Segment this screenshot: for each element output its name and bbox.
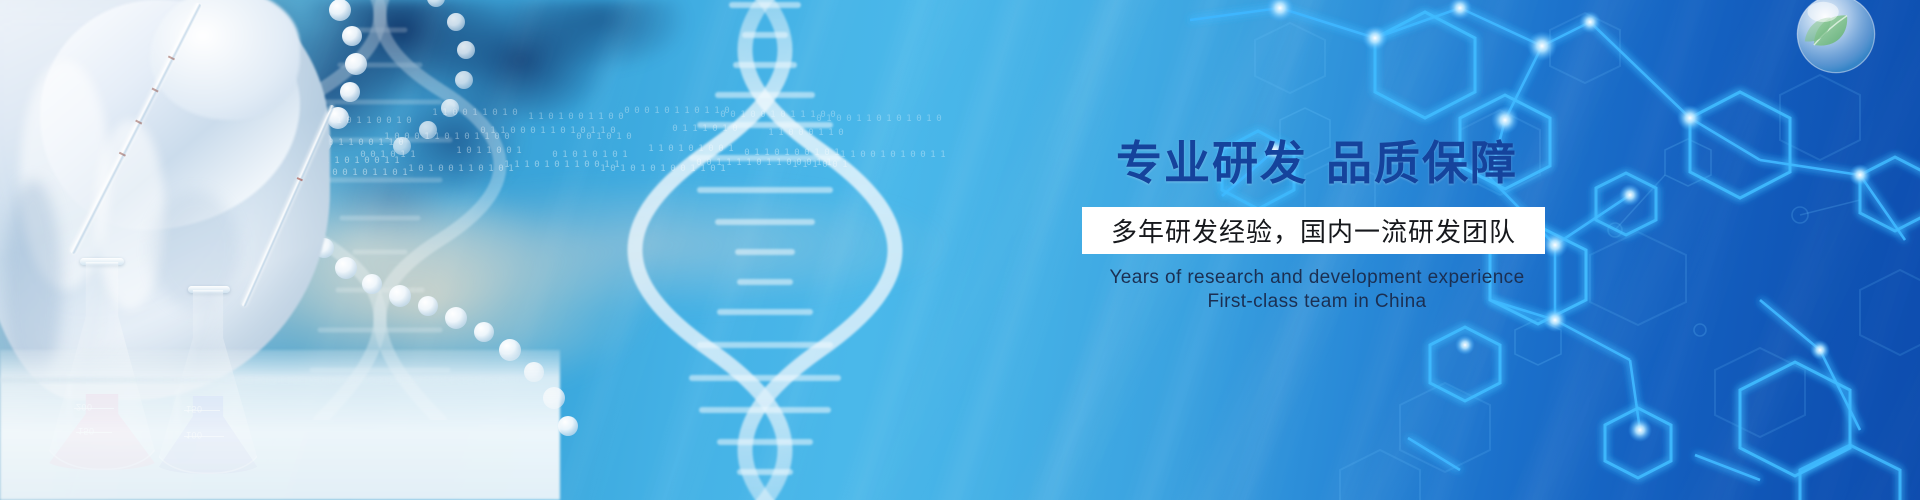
leaf-bubble-icon xyxy=(1790,0,1882,80)
lab-bench-surface xyxy=(0,350,560,500)
lab-bench-edge xyxy=(0,378,520,382)
banner-english-line-1: Years of research and development experi… xyxy=(1082,266,1552,290)
banner-sub-text: 多年研发经验，国内一流研发团队 xyxy=(1111,212,1516,249)
banner-headline: 专业研发 品质保障 xyxy=(1082,140,1552,186)
hero-banner: 0 1 0 1 1 01 0 1 0 0 1 1 0 1 0 1 0 10 1 … xyxy=(0,0,1920,500)
banner-english-line-2: First-class team in China xyxy=(1082,290,1552,314)
banner-english-block: Years of research and development experi… xyxy=(1082,266,1552,314)
banner-text-block: 专业研发 品质保障 多年研发经验，国内一流研发团队 Years of resea… xyxy=(1082,140,1552,314)
banner-sub-strip: 多年研发经验，国内一流研发团队 xyxy=(1082,207,1545,254)
